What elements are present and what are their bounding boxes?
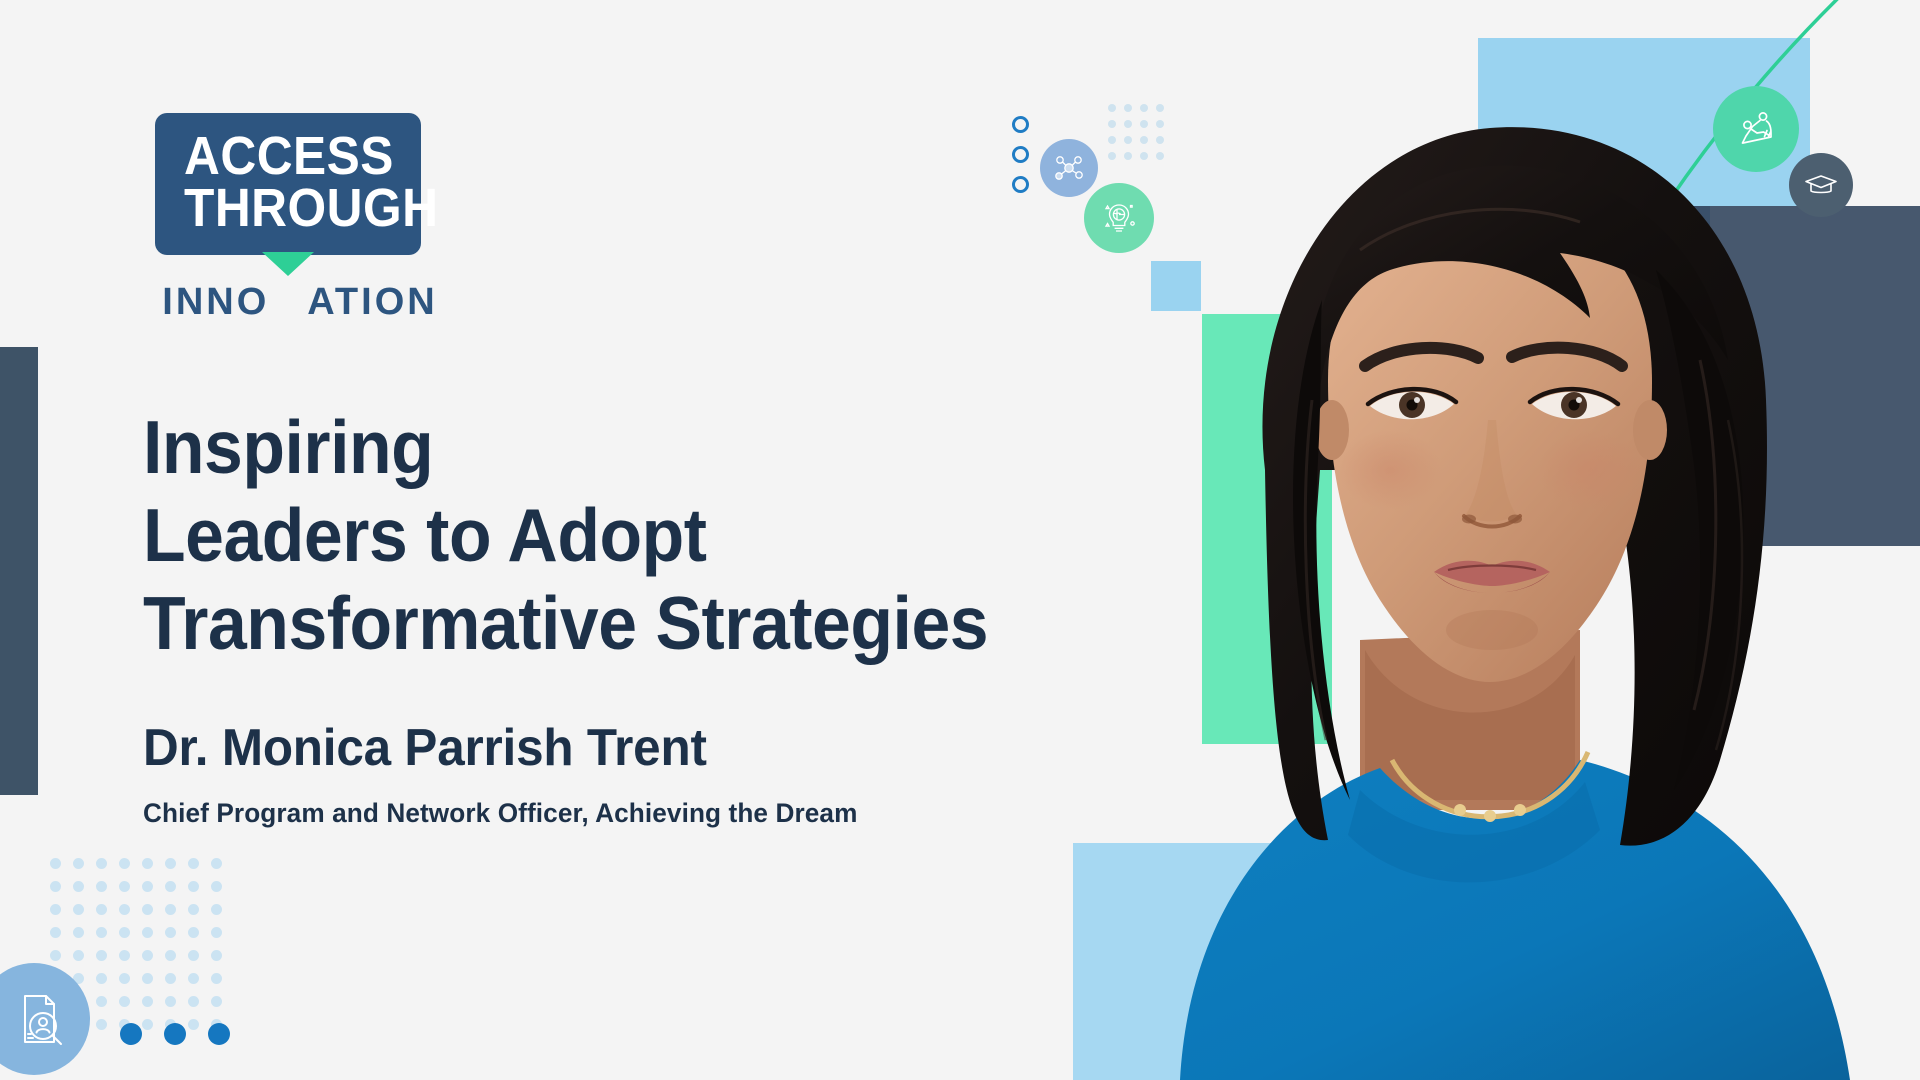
outline-circle-1 — [1012, 116, 1029, 133]
headline-line-2: Leaders to Adopt — [143, 492, 1129, 580]
page-title: Inspiring Leaders to Adopt Transformativ… — [143, 404, 1129, 667]
logo-line-through: THROUGH — [184, 183, 392, 235]
solid-dot-1 — [120, 1023, 142, 1045]
headline-line-1: Inspiring — [143, 404, 1129, 492]
solid-dot-3 — [208, 1023, 230, 1045]
logo-line-access: ACCESS — [184, 131, 392, 183]
brand-logo[interactable]: ACCESS THROUGH INNOATION — [155, 113, 455, 324]
speaker-slide: ACCESS THROUGH INNOATION Inspiring Leade… — [0, 0, 1920, 1080]
left-accent-bar — [0, 347, 38, 795]
outline-circle-2 — [1012, 146, 1029, 163]
speaker-role: Chief Program and Network Officer, Achie… — [143, 798, 857, 829]
outline-circle-3 — [1012, 176, 1029, 193]
headline-line-3: Transformative Strategies — [143, 580, 1129, 668]
logo-box: ACCESS THROUGH — [155, 113, 421, 255]
solid-dot-2 — [164, 1023, 186, 1045]
speaker-portrait — [1060, 0, 1920, 1080]
logo-subtitle: INNOATION — [155, 281, 445, 324]
speaker-name: Dr. Monica Parrish Trent — [143, 718, 707, 778]
logo-subtitle-prefix: INNO — [162, 281, 269, 323]
logo-subtitle-suffix: ATION — [307, 281, 437, 323]
down-triangle-icon — [262, 252, 314, 276]
